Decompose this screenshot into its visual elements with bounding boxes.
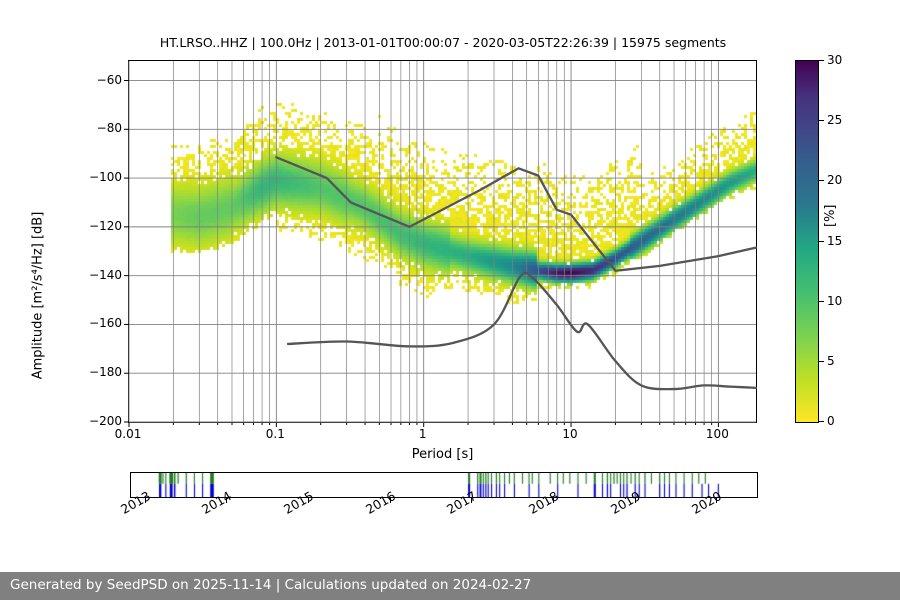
- y-axis-label-wrap: Amplitude [m²/s⁴/Hz] [dB]: [0, 60, 40, 423]
- colorbar-label: [%]: [823, 107, 838, 227]
- y-tick-label: −160: [89, 316, 122, 330]
- x-tick-label: 100: [706, 427, 729, 441]
- colorbar-tick-label: 30: [827, 53, 842, 67]
- ppsd-figure: HT.LRSO..HHZ | 100.0Hz | 2013-01-01T00:0…: [0, 0, 900, 600]
- y-axis-label: Amplitude [m²/s⁴/Hz] [dB]: [31, 146, 46, 446]
- x-axis-tick-labels: 0.010.1110100: [128, 427, 757, 449]
- y-tick-label: −80: [97, 121, 122, 135]
- psd-plot-area: [128, 60, 757, 423]
- noise-model-line: [288, 273, 756, 390]
- timeline-year-labels: 20132014201520162017201820192020: [130, 500, 758, 545]
- x-tick-label: 10: [562, 427, 577, 441]
- y-tick-label: −140: [89, 268, 122, 282]
- colorbar-tick-mark: [819, 361, 824, 362]
- colorbar-tick-label: 0: [827, 414, 835, 428]
- colorbar-tick-label: 10: [827, 294, 842, 308]
- colorbar-tick-mark: [819, 241, 824, 242]
- noise-model-curves: [129, 61, 756, 422]
- noise-model-line: [276, 157, 756, 270]
- footer-bar: Generated by SeedPSD on 2025-11-14 | Cal…: [0, 572, 900, 600]
- y-tick-label: −180: [89, 365, 122, 379]
- y-tick-label: −100: [89, 170, 122, 184]
- x-tick-label: 0.01: [115, 427, 142, 441]
- y-tick-label: −120: [89, 219, 122, 233]
- x-tick-label: 0.1: [266, 427, 285, 441]
- y-tick-label: −60: [97, 73, 122, 87]
- page-title: HT.LRSO..HHZ | 100.0Hz | 2013-01-01T00:0…: [128, 35, 758, 50]
- colorbar-tick-label: 5: [827, 354, 835, 368]
- y-axis-tick-labels: −60−80−100−120−140−160−180−200: [46, 60, 122, 423]
- footer-text: Generated by SeedPSD on 2025-11-14 | Cal…: [10, 577, 531, 593]
- x-tick-label: 1: [419, 427, 427, 441]
- colorbar-tick-mark: [819, 421, 824, 422]
- colorbar-tick-mark: [819, 60, 824, 61]
- colorbar-tick-label: 15: [827, 234, 842, 248]
- colorbar: [795, 60, 819, 423]
- x-axis-label: Period [s]: [128, 447, 757, 462]
- y-tick-label: −200: [89, 414, 122, 428]
- colorbar-tick-mark: [819, 301, 824, 302]
- timeline-year-label: 2013: [118, 488, 153, 517]
